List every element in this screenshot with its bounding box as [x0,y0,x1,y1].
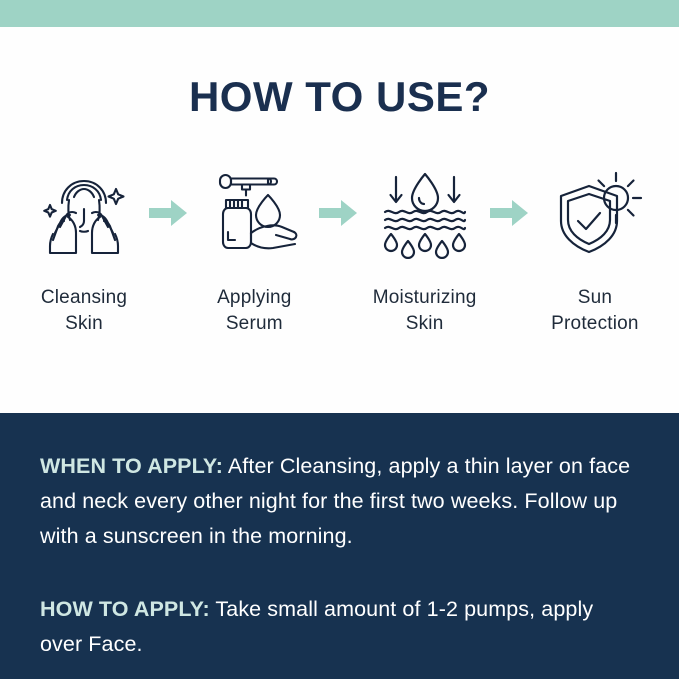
arrow-right-icon [488,167,532,259]
instruction-when-to-apply: WHEN TO APPLY: After Cleansing, apply a … [40,449,639,554]
when-to-apply-label: WHEN TO APPLY: [40,454,223,478]
page-title: HOW TO USE? [0,73,679,121]
step-moisturizing-skin: Moisturizing Skin [363,167,487,337]
serum-dropper-bottle-hand-icon [206,167,302,259]
step-applying-serum: Applying Serum [192,167,316,337]
water-droplets-absorbing-skin-icon [377,167,473,259]
face-washing-icon [36,167,132,259]
steps-row: Cleansing Skin [22,167,657,337]
step-label: Applying Serum [217,285,291,337]
arrow-right-icon [317,167,361,259]
how-to-use-infographic: HOW TO USE? [0,0,679,679]
step-label: Cleansing Skin [41,285,127,337]
step-sun-protection: Sun Protection [533,167,657,337]
shield-sun-check-icon [547,167,643,259]
arrow-right-icon [147,167,191,259]
step-label: Sun Protection [551,285,639,337]
instruction-how-to-apply: HOW TO APPLY: Take small amount of 1-2 p… [40,592,639,662]
step-label: Moisturizing Skin [373,285,477,337]
steps-section: HOW TO USE? [0,27,679,413]
how-to-apply-label: HOW TO APPLY: [40,597,210,621]
step-cleansing-skin: Cleansing Skin [22,167,146,337]
instructions-panel: WHEN TO APPLY: After Cleansing, apply a … [0,413,679,679]
top-accent-band [0,0,679,27]
